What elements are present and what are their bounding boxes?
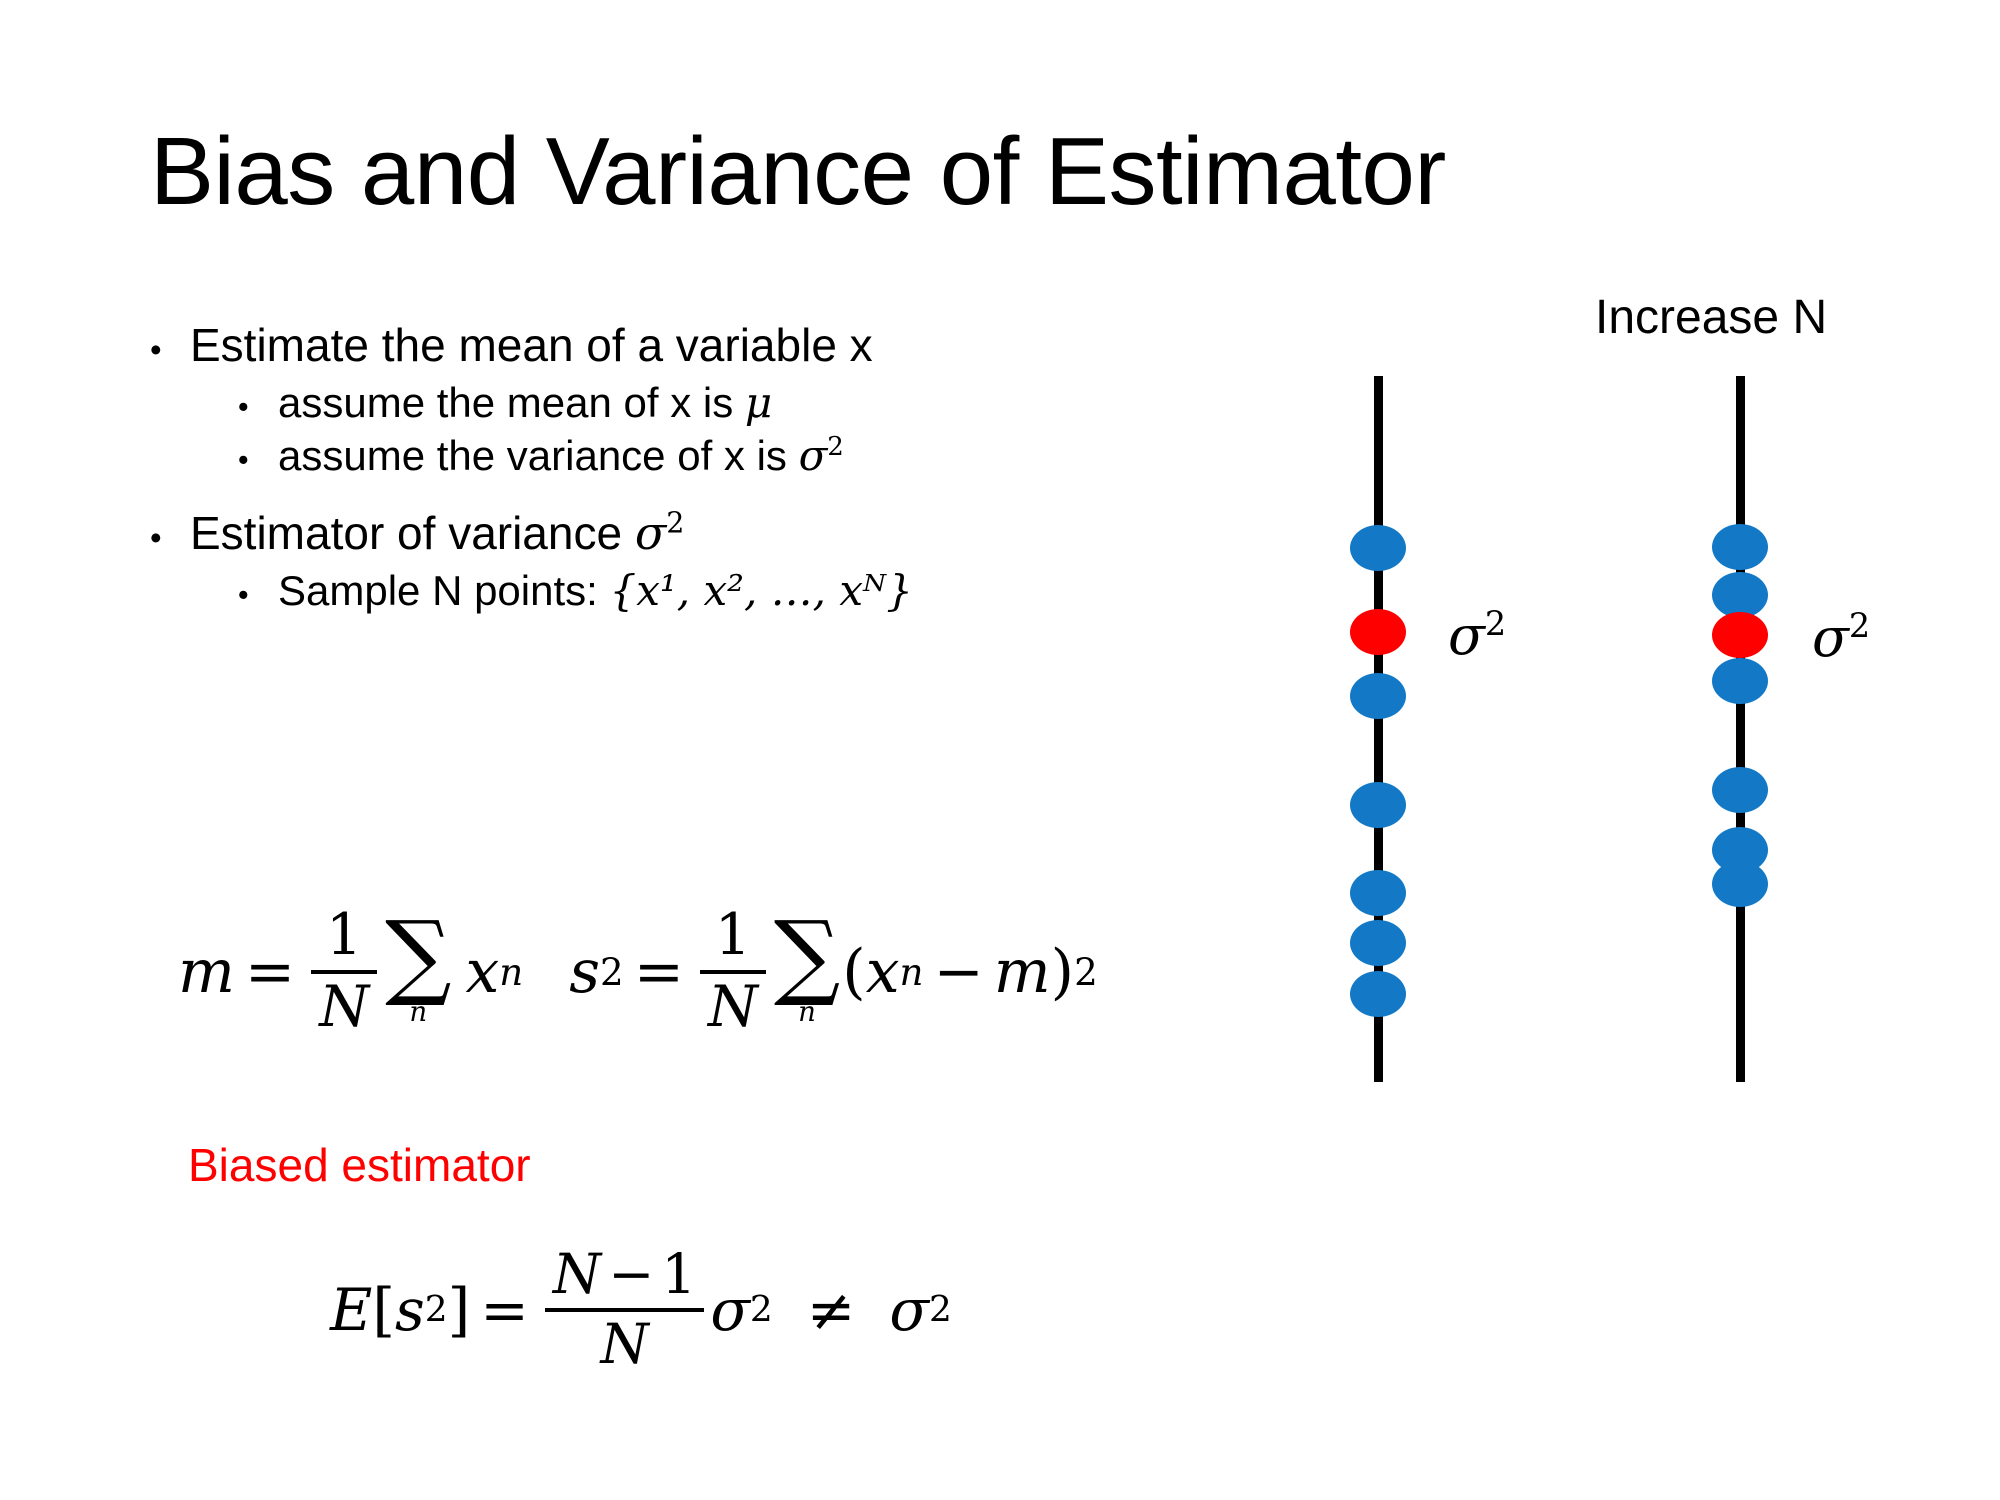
sigma-symbol: σ: [1812, 606, 1849, 669]
sample-estimate-dot: [1350, 971, 1406, 1017]
sample-estimate-dot: [1712, 524, 1768, 570]
sample-estimate-dot: [1712, 658, 1768, 704]
sample-estimate-dot: [1712, 767, 1768, 813]
sigma-squared-label: σ2: [1448, 604, 1506, 667]
true-variance-dot: [1350, 609, 1406, 655]
sample-estimate-dot: [1350, 525, 1406, 571]
large-n-axis: [1736, 376, 1745, 1082]
sample-estimate-dot: [1350, 920, 1406, 966]
sample-estimate-dot: [1712, 861, 1768, 907]
sample-estimate-dot: [1350, 673, 1406, 719]
sampling-diagram: Increase N σ2σ2: [0, 0, 2000, 1500]
sigma-exponent: 2: [1485, 604, 1506, 643]
sample-estimate-dot: [1350, 870, 1406, 916]
sigma-symbol: σ: [1448, 604, 1485, 667]
slide-canvas: Bias and Variance of Estimator • Estimat…: [0, 0, 2000, 1500]
increase-n-label: Increase N: [1595, 290, 1827, 345]
true-variance-dot: [1712, 612, 1768, 658]
sigma-exponent: 2: [1849, 606, 1870, 645]
sigma-squared-label: σ2: [1812, 606, 1870, 669]
sample-estimate-dot: [1350, 782, 1406, 828]
